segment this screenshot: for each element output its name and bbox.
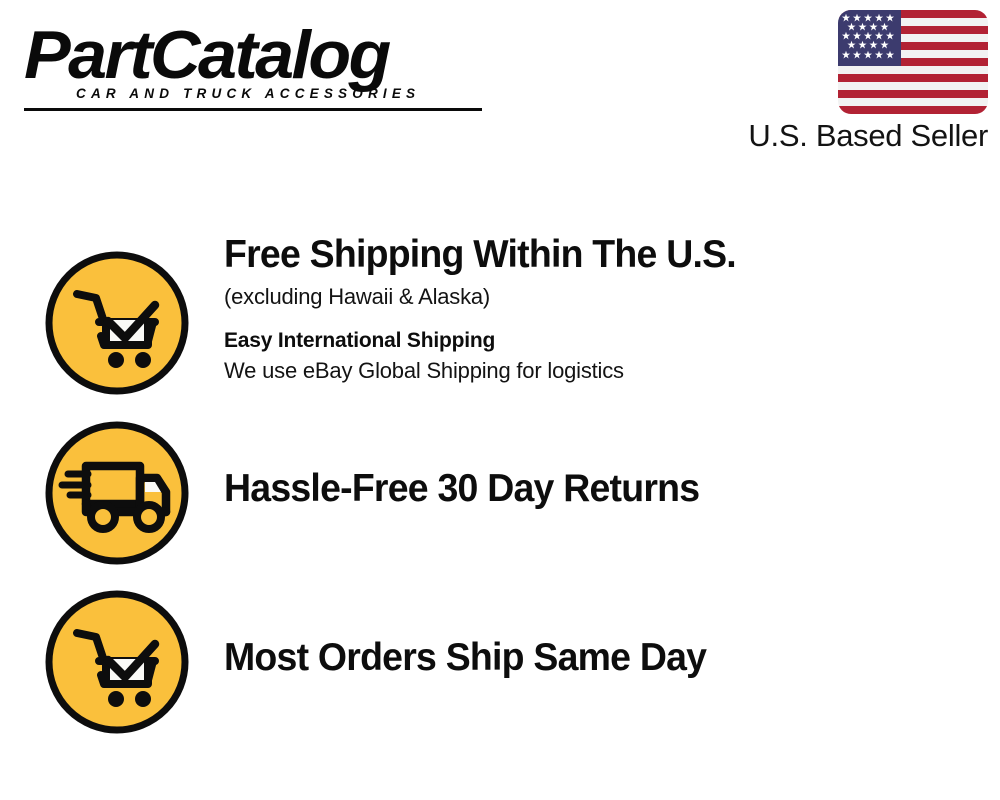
brand-logo[interactable]: PartCatalog CAR AND TRUCK ACCESSORIES <box>24 20 494 101</box>
page-header: PartCatalog CAR AND TRUCK ACCESSORIES <box>0 0 1000 170</box>
feature-subline: (excluding Hawaii & Alaska) <box>224 282 984 312</box>
us-based-seller-label: U.S. Based Seller <box>748 118 988 154</box>
shopping-cart-check-icon <box>44 589 190 735</box>
feature-text-free-shipping: Free Shipping Within The U.S. (excluding… <box>224 232 984 386</box>
feature-sub-heading: Easy International Shipping <box>224 326 984 356</box>
feature-headline: Free Shipping Within The U.S. <box>224 232 954 278</box>
feature-headline: Most Orders Ship Same Day <box>224 635 954 681</box>
feature-headline: Hassle-Free 30 Day Returns <box>224 466 954 512</box>
feature-sub-detail: We use eBay Global Shipping for logistic… <box>224 356 984 386</box>
shopping-cart-check-icon <box>44 250 190 396</box>
brand-underline-divider <box>24 108 482 111</box>
us-flag-icon <box>838 10 988 114</box>
feature-text-returns: Hassle-Free 30 Day Returns <box>224 466 984 512</box>
feature-text-same-day: Most Orders Ship Same Day <box>224 635 984 681</box>
brand-wordmark: PartCatalog <box>24 20 508 90</box>
delivery-truck-icon <box>44 420 190 566</box>
